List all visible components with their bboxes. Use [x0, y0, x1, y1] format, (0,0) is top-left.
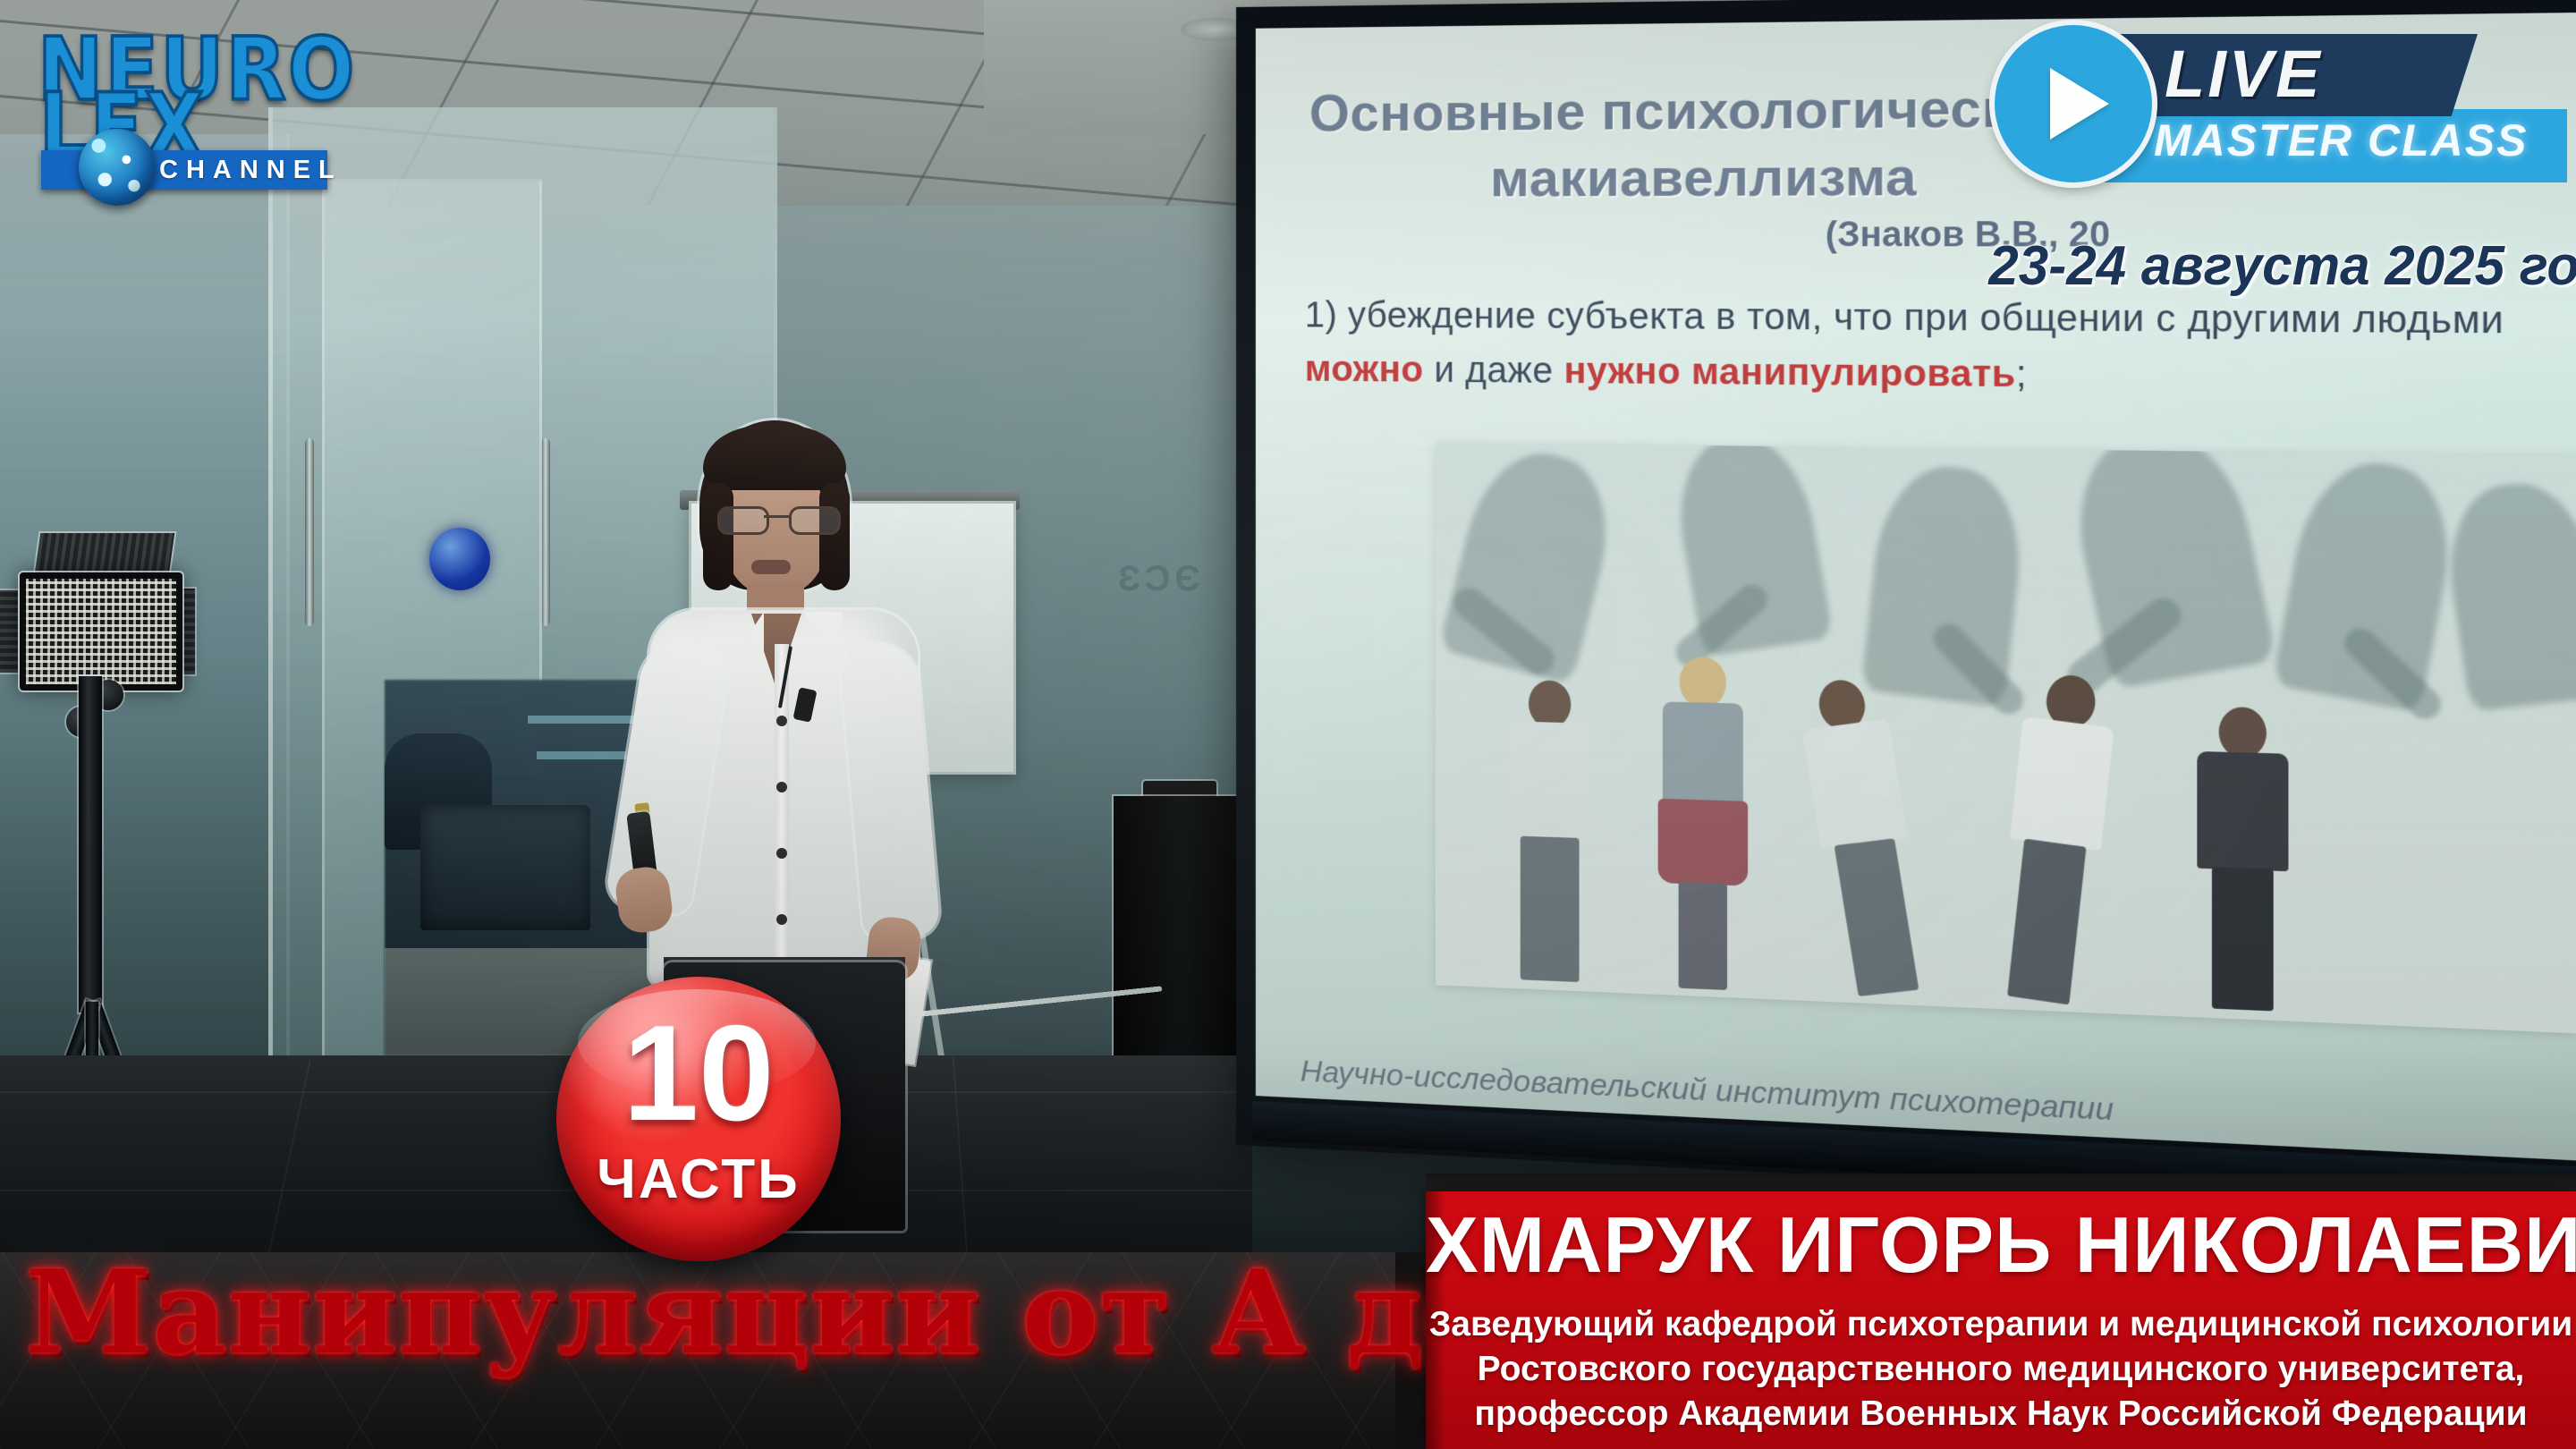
neurolex-channel-logo[interactable]: NEURO LEX CHANNEL	[27, 16, 376, 186]
globe-icon	[79, 129, 156, 206]
event-date: 23-24 августа 2025 года	[1988, 234, 2576, 298]
play-icon[interactable]	[1995, 25, 2152, 182]
glass-shelf-2	[537, 751, 626, 759]
slide-image-hands-manipulating-people	[1436, 443, 2576, 1034]
speaker-role-line-1: Заведующий кафедрой психотерапии и медиц…	[1426, 1304, 2576, 1344]
led-light-icon	[20, 572, 182, 691]
slide-body-text: 1) убеждение субъекта в том, что при общ…	[1305, 288, 2576, 408]
speaker-role-line-2: Ростовского государственного медицинског…	[1426, 1349, 2576, 1389]
logo-word-channel: CHANNEL	[159, 156, 343, 185]
slide-person	[1499, 679, 1600, 983]
barn-door-top	[35, 533, 174, 574]
speaker-role-line-3: профессор Академии Военных Наук Российск…	[1426, 1394, 2576, 1434]
speaker-name: ХМАРУК ИГОРЬ НИКОЛАЕВИЧ	[1426, 1206, 2576, 1284]
speaker-name-banner: ХМАРУК ИГОРЬ НИКОЛАЕВИЧ Заведующий кафед…	[1426, 1191, 2576, 1449]
video-thumbnail-stage: ЭСЗ	[0, 0, 2576, 1449]
live-master-class-badge[interactable]: LIVE MASTER CLASS	[1995, 9, 2567, 179]
page-title: Манипуляции от А до Я	[25, 1256, 1456, 1370]
master-class-label: MASTER CLASS	[2154, 118, 2528, 163]
part-word-label: ЧАСТЬ	[556, 1152, 841, 1207]
barn-door-left	[0, 590, 18, 673]
glasses-icon	[717, 506, 835, 530]
slide-person	[1782, 673, 1945, 999]
lounge-ottoman	[420, 805, 590, 930]
projector-screen-frame: Основные психологические макиавеллизма (…	[1236, 0, 2576, 1220]
decorative-ball-icon	[429, 528, 490, 590]
slide-person	[2183, 706, 2302, 1013]
part-number-badge: 10 ЧАСТЬ	[556, 977, 841, 1261]
projector-screen: Основные психологические макиавеллизма (…	[1256, 12, 2576, 1165]
tripod-icon	[79, 676, 102, 1013]
slide-person	[1647, 656, 1759, 990]
part-number: 10	[556, 1005, 841, 1141]
live-label: LIVE	[2165, 41, 2322, 107]
wall-logo-sign: ЭСЗ	[1114, 559, 1200, 599]
slide-person	[1980, 668, 2132, 1008]
